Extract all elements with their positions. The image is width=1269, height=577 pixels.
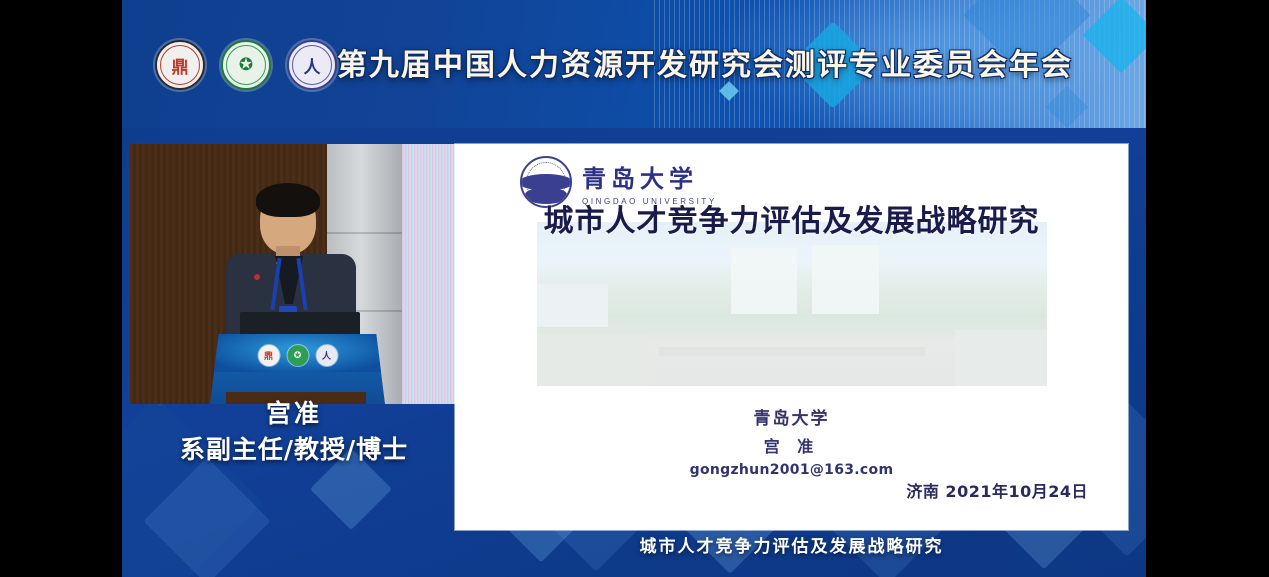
organizer-emblems: 鼎 ✪ 人 xyxy=(155,40,337,90)
slide-presenter-email: gongzhun2001@163.com xyxy=(455,462,1128,478)
university-name-cn: 青岛大学 xyxy=(582,159,717,194)
speaker-role: 系副主任/教授/博士 xyxy=(130,433,458,467)
slide-affiliation: 青岛大学 xyxy=(455,404,1128,429)
campus-photo xyxy=(537,222,1047,386)
podium-chrd-icon: 鼎 xyxy=(258,345,279,366)
slide-date: 济南 2021年10月24日 xyxy=(906,478,1088,502)
slide-title: 城市人才竞争力评估及发展战略研究 xyxy=(455,196,1128,240)
slide-presenter-name: 宫 准 xyxy=(455,433,1128,457)
blue-emblem-glyph: 人 xyxy=(289,42,335,88)
conference-title: 第九届中国人力资源开发研究会测评专业委员会年会 xyxy=(337,40,1073,84)
podium-emblems: 鼎 ✪ 人 xyxy=(258,345,337,366)
chrd-emblem-glyph: 鼎 xyxy=(157,42,203,88)
conference-banner: 鼎 ✪ 人 第九届中国人力资源开发研究会测评专业委员会年会 xyxy=(122,0,1146,128)
podium-blue-icon: 人 xyxy=(316,345,337,366)
blue-emblem-icon: 人 xyxy=(287,40,337,90)
speaker-caption: 宫准 系副主任/教授/博士 xyxy=(130,396,458,467)
green-emblem-glyph: ✪ xyxy=(223,42,269,88)
backdrop-led-screen xyxy=(402,144,458,404)
podium-green-icon: ✪ xyxy=(287,345,308,366)
speaker-name: 宫准 xyxy=(130,396,458,431)
green-emblem-icon: ✪ xyxy=(221,40,271,90)
speaker-video: 鼎 ✪ 人 xyxy=(130,144,458,404)
video-frame: 鼎 ✪ 人 第九届中国人力资源开发研究会测评专业委员会年会 xyxy=(122,0,1146,577)
chrd-emblem-icon: 鼎 xyxy=(155,40,205,90)
presentation-slide: 青岛大学 QINGDAO UNIVERSITY 城市人才竞争力评估及发展战略研究… xyxy=(455,144,1128,530)
stage-background: 鼎 ✪ 人 宫准 系副主任/教授/博士 xyxy=(122,128,1146,577)
footer-caption: 城市人才竞争力评估及发展战略研究 xyxy=(455,532,1128,557)
slide-affiliation-block: 青岛大学 宫 准 gongzhun2001@163.com xyxy=(455,404,1128,478)
screen: 鼎 ✪ 人 第九届中国人力资源开发研究会测评专业委员会年会 xyxy=(0,0,1269,577)
